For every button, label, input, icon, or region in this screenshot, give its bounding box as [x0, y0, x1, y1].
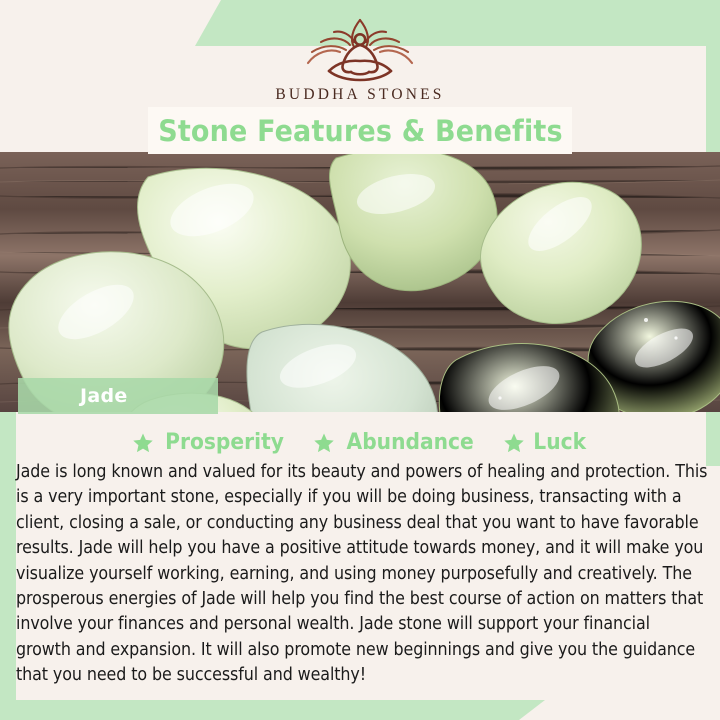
decorative-band-bottom-left	[0, 700, 545, 720]
keyword-label: Prosperity	[165, 430, 284, 455]
keyword-item-luck: Luck	[503, 430, 588, 455]
star-icon	[313, 432, 335, 454]
keyword-label: Luck	[533, 430, 586, 455]
stone-description: Jade is long known and valued for its be…	[16, 460, 708, 689]
page-title: Stone Features & Benefits	[158, 114, 563, 148]
keyword-label: Abundance	[346, 430, 473, 455]
stone-info-card: BUDDHA STONES Stone Features & Benefits	[0, 0, 720, 720]
jade-stones-photo	[0, 152, 720, 412]
keyword-list: Prosperity Abundance Luck	[0, 430, 720, 455]
keyword-item-abundance: Abundance	[313, 430, 479, 455]
star-icon	[503, 432, 525, 454]
brand-name: BUDDHA STONES	[275, 86, 444, 104]
brand-logo: BUDDHA STONES	[0, 14, 720, 104]
title-banner: Stone Features & Benefits	[148, 107, 572, 154]
photo-caption-band: Jade	[18, 378, 218, 414]
star-icon	[132, 432, 154, 454]
keyword-item-prosperity: Prosperity	[132, 430, 289, 455]
lotus-meditation-figure-icon	[296, 14, 424, 82]
stone-name-label: Jade	[80, 385, 128, 407]
